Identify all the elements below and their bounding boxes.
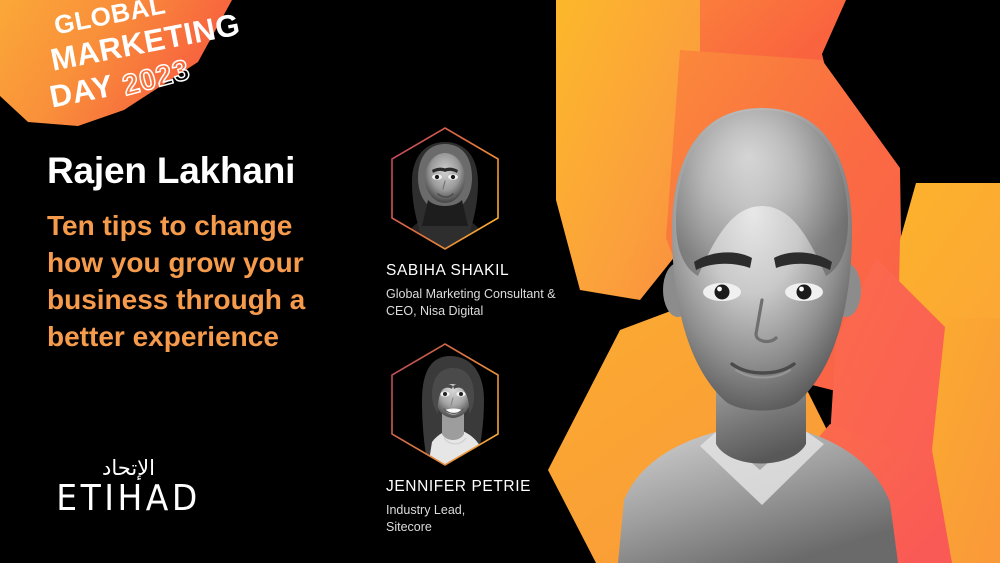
speaker-name: Rajen Lakhani xyxy=(47,150,295,192)
talk-title: Ten tips to change how you grow your bus… xyxy=(47,208,352,356)
panelist-portrait xyxy=(388,342,502,467)
panelist-photo-frame xyxy=(388,126,502,251)
panelist-card: SABIHA SHAKIL Global Marketing Consultan… xyxy=(386,126,576,320)
etihad-logo: الإتحاد ETIHAD xyxy=(46,458,211,516)
panelist-portrait xyxy=(388,126,502,251)
presentation-slide: GLOBAL MARKETING DAY 2023 Rajen Lakhani … xyxy=(0,0,1000,563)
panelist-photo-frame xyxy=(388,342,502,467)
panelist-role: Global Marketing Consultant & CEO, Nisa … xyxy=(386,286,576,320)
panelist-name: JENNIFER PETRIE xyxy=(386,478,576,496)
etihad-logo-latin: ETIHAD xyxy=(46,480,211,517)
event-logo-text: GLOBAL MARKETING DAY 2023 xyxy=(46,0,294,127)
panelist-name: SABIHA SHAKIL xyxy=(386,262,576,280)
panelist-card: JENNIFER PETRIE Industry Lead, Sitecore xyxy=(386,342,576,536)
event-logo: GLOBAL MARKETING DAY 2023 xyxy=(0,0,260,135)
panelist-role: Industry Lead, Sitecore xyxy=(386,502,576,536)
